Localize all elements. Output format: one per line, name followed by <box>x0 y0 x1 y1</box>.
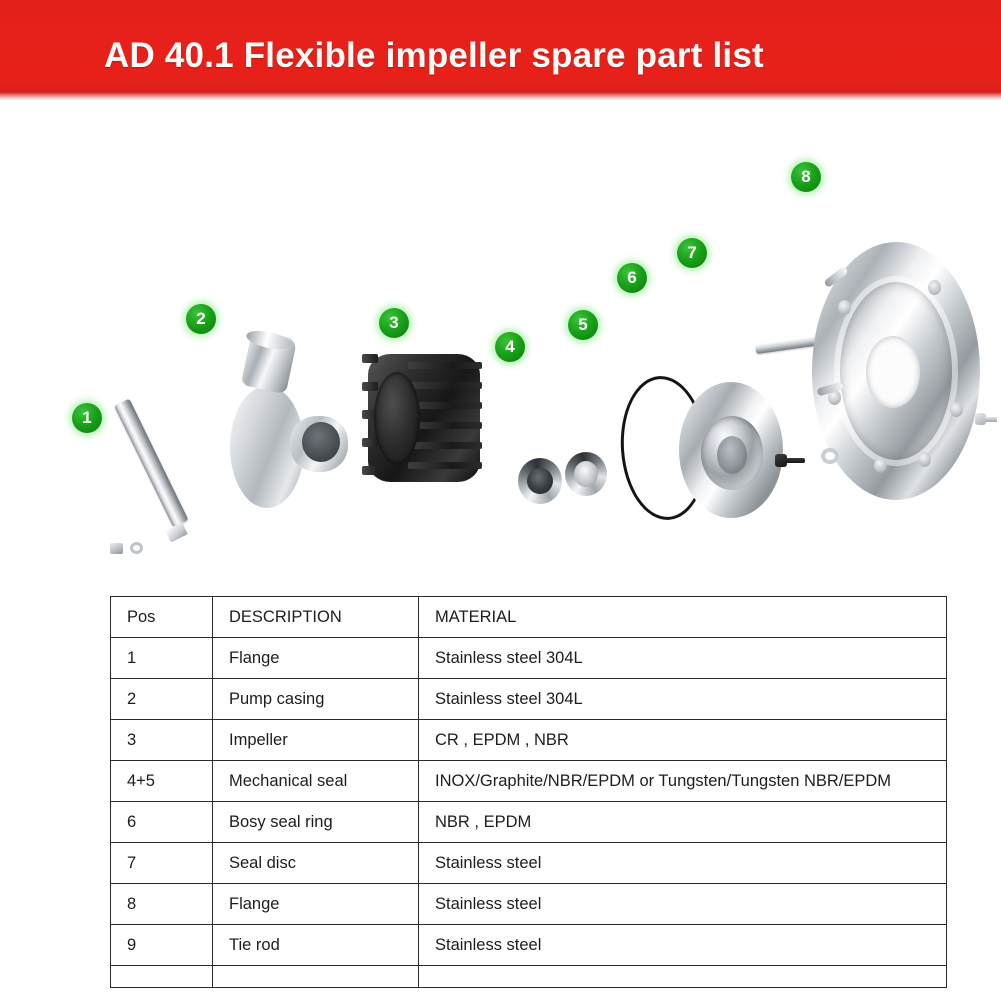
part-mechanical-seal-stationary <box>565 452 607 496</box>
impeller-tooth <box>362 438 378 447</box>
table-row: 2 Pump casing Stainless steel 304L <box>111 679 947 720</box>
hex-bolt-icon <box>775 456 805 465</box>
impeller-tooth <box>362 354 378 363</box>
cell-material: Stainless steel <box>419 884 947 925</box>
callout-4: 4 <box>495 332 525 362</box>
cell-pos: 9 <box>111 925 213 966</box>
cell-pos: 1 <box>111 638 213 679</box>
seal-ring-bore <box>574 461 598 487</box>
table-row: 7 Seal disc Stainless steel <box>111 843 947 884</box>
cell-pos: 8 <box>111 884 213 925</box>
part-flange-plate <box>812 242 980 500</box>
callout-1: 1 <box>72 403 102 433</box>
callout-2: 2 <box>186 304 216 334</box>
flange-bolt-hole <box>874 458 887 473</box>
table-row: 6 Bosy seal ring NBR , EPDM <box>111 802 947 843</box>
cell-description: Bosy seal ring <box>213 802 419 843</box>
tie-rod-washer <box>130 542 143 554</box>
page-title: AD 40.1 Flexible impeller spare part lis… <box>104 36 764 76</box>
callout-5: 5 <box>568 310 598 340</box>
callout-6: 6 <box>617 263 647 293</box>
callout-3: 3 <box>379 308 409 338</box>
cell-description <box>213 966 419 988</box>
cell-pos: 2 <box>111 679 213 720</box>
parts-table: Pos DESCRIPTION MATERIAL 1 Flange Stainl… <box>110 596 947 988</box>
impeller-vane <box>408 462 482 469</box>
impeller-vane <box>408 362 482 369</box>
table-row: 3 Impeller CR , EPDM , NBR <box>111 720 947 761</box>
table-row: 8 Flange Stainless steel <box>111 884 947 925</box>
seal-disc-bore <box>717 436 747 474</box>
table-header-row: Pos DESCRIPTION MATERIAL <box>111 597 947 638</box>
flange-center-bore <box>866 336 920 408</box>
seal-ring-bore <box>527 468 553 494</box>
cell-description: Seal disc <box>213 843 419 884</box>
cell-material: Stainless steel <box>419 925 947 966</box>
cell-description: Flange <box>213 638 419 679</box>
impeller-tooth <box>362 382 378 391</box>
parts-table-container: Pos DESCRIPTION MATERIAL 1 Flange Stainl… <box>110 596 946 988</box>
callout-8: 8 <box>791 162 821 192</box>
bolt-shank <box>786 458 805 463</box>
flange-screw <box>975 415 997 424</box>
column-header-description: DESCRIPTION <box>213 597 419 638</box>
column-header-material: MATERIAL <box>419 597 947 638</box>
cell-material <box>419 966 947 988</box>
cell-pos <box>111 966 213 988</box>
part-impeller <box>352 338 492 508</box>
tie-rod-shaft <box>114 399 188 528</box>
impeller-vane <box>408 382 482 389</box>
part-mechanical-seal-rotating <box>518 458 562 504</box>
column-header-pos: Pos <box>111 597 213 638</box>
callout-7: 7 <box>677 238 707 268</box>
cell-description: Pump casing <box>213 679 419 720</box>
screw-shank <box>985 417 997 422</box>
impeller-vane <box>408 442 482 449</box>
tie-rod-end-cap <box>165 522 188 542</box>
flange-bolt-hole <box>918 452 931 467</box>
flange-bolt-hole <box>928 280 941 295</box>
table-row: 9 Tie rod Stainless steel <box>111 925 947 966</box>
cell-material: Stainless steel 304L <box>419 638 947 679</box>
part-pump-casing <box>218 330 368 530</box>
part-seal-disc <box>679 382 783 518</box>
casing-side-port-bore <box>302 422 340 462</box>
cell-pos: 3 <box>111 720 213 761</box>
flange-bolt-hole <box>950 402 963 417</box>
cell-material: Stainless steel 304L <box>419 679 947 720</box>
cell-material: NBR , EPDM <box>419 802 947 843</box>
cell-pos: 4+5 <box>111 761 213 802</box>
cell-material: CR , EPDM , NBR <box>419 720 947 761</box>
cell-description: Flange <box>213 884 419 925</box>
cell-description: Impeller <box>213 720 419 761</box>
cell-description: Tie rod <box>213 925 419 966</box>
cell-description: Mechanical seal <box>213 761 419 802</box>
cell-pos: 6 <box>111 802 213 843</box>
cell-material: INOX/Graphite/NBR/EPDM or Tungsten/Tungs… <box>419 761 947 802</box>
table-row: 1 Flange Stainless steel 304L <box>111 638 947 679</box>
flange-washer <box>821 448 839 464</box>
cell-material: Stainless steel <box>419 843 947 884</box>
flange-bolt-hole <box>838 300 851 315</box>
cell-pos: 7 <box>111 843 213 884</box>
table-row: 4+5 Mechanical seal INOX/Graphite/NBR/EP… <box>111 761 947 802</box>
header-banner: AD 40.1 Flexible impeller spare part lis… <box>0 0 1001 100</box>
exploded-parts-diagram: 1 2 3 4 5 6 7 8 <box>0 100 1001 585</box>
part-tie-rod-bar <box>108 400 204 540</box>
impeller-face <box>374 372 420 464</box>
impeller-tooth <box>362 466 378 475</box>
tie-rod-nut <box>110 543 123 554</box>
table-row-empty <box>111 966 947 988</box>
